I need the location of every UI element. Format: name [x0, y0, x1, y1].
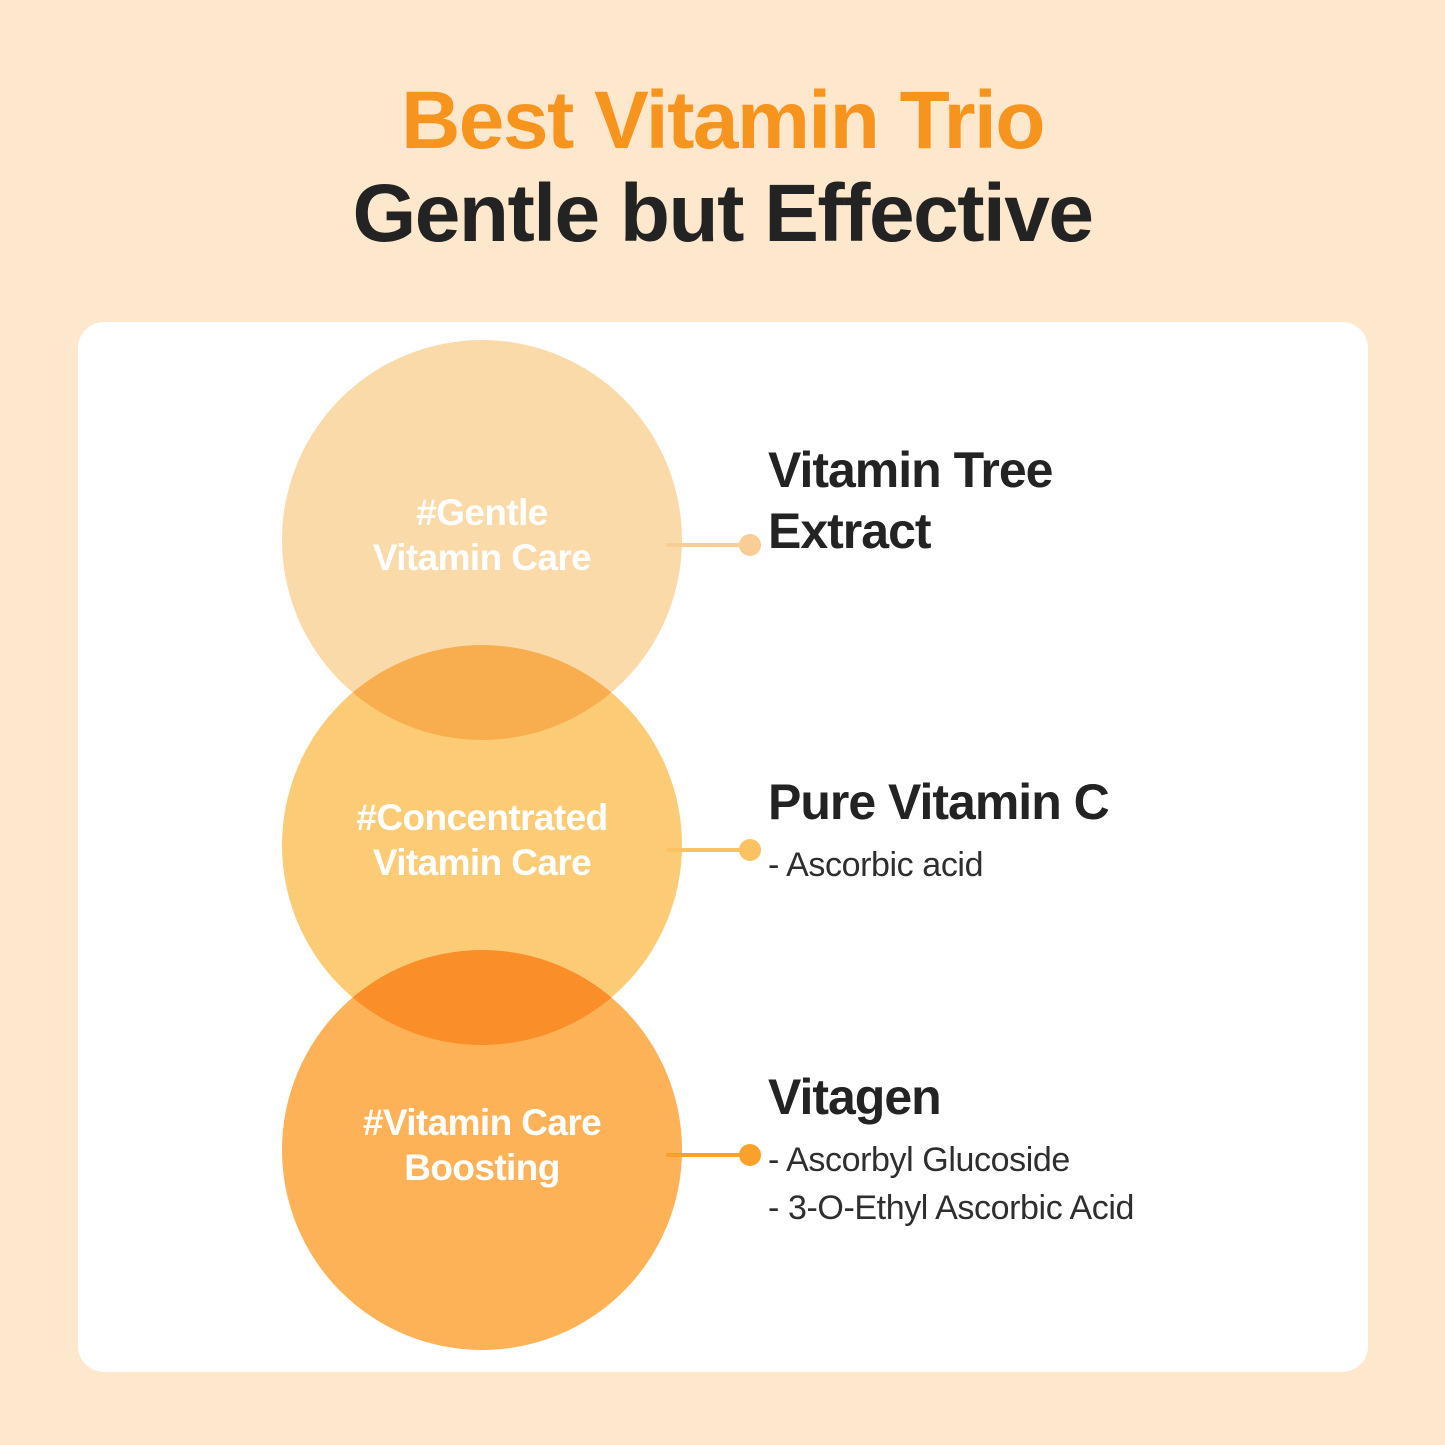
venn-label-gentle-line-1: #Gentle	[416, 492, 548, 533]
detail-item-pure-vitamin-c: Pure Vitamin C - Ascorbic acid	[768, 772, 1348, 889]
connector-line-1	[666, 534, 761, 556]
detail-subitem: - Ascorbic acid	[768, 841, 1348, 889]
venn-label-concentrated-line-1: #Concentrated	[356, 797, 607, 838]
detail-subitems: - Ascorbic acid	[768, 841, 1348, 889]
infographic-page: Best Vitamin Trio Gentle but Effective #…	[0, 0, 1445, 1445]
connector-dot-icon	[739, 534, 761, 556]
detail-title: Vitamin Tree Extract	[768, 440, 1348, 562]
connector-stem-icon	[666, 848, 742, 852]
connector-dot-icon	[739, 1144, 761, 1166]
venn-label-concentrated-line-2: Vitamin Care	[373, 842, 591, 883]
venn-label-boosting: #Vitamin Care Boosting	[282, 1100, 682, 1190]
connector-stem-icon	[666, 543, 742, 547]
connector-line-2	[666, 839, 761, 861]
detail-subitem: - 3-O-Ethyl Ascorbic Acid	[768, 1184, 1348, 1232]
detail-title: Pure Vitamin C	[768, 772, 1348, 833]
detail-subitems: - Ascorbyl Glucoside - 3-O-Ethyl Ascorbi…	[768, 1136, 1348, 1233]
connector-dot-icon	[739, 839, 761, 861]
detail-item-vitagen: Vitagen - Ascorbyl Glucoside - 3-O-Ethyl…	[768, 1067, 1348, 1233]
venn-label-concentrated: #Concentrated Vitamin Care	[282, 795, 682, 885]
venn-label-boosting-line-1: #Vitamin Care	[363, 1102, 601, 1143]
venn-label-gentle: #Gentle Vitamin Care	[282, 490, 682, 580]
venn-label-gentle-line-2: Vitamin Care	[373, 537, 591, 578]
detail-item-vitamin-tree-extract: Vitamin Tree Extract	[768, 440, 1348, 570]
page-title: Best Vitamin Trio Gentle but Effective	[0, 78, 1445, 258]
venn-label-boosting-line-2: Boosting	[404, 1147, 560, 1188]
headline-line-2: Gentle but Effective	[0, 171, 1445, 258]
detail-title: Vitagen	[768, 1067, 1348, 1128]
content-card: #Gentle Vitamin Care #Concentrated Vitam…	[78, 322, 1368, 1372]
headline-line-1: Best Vitamin Trio	[0, 78, 1445, 165]
venn-diagram: #Gentle Vitamin Care #Concentrated Vitam…	[272, 340, 692, 1350]
connector-stem-icon	[666, 1153, 742, 1157]
connector-line-3	[666, 1144, 761, 1166]
detail-subitem: - Ascorbyl Glucoside	[768, 1136, 1348, 1184]
